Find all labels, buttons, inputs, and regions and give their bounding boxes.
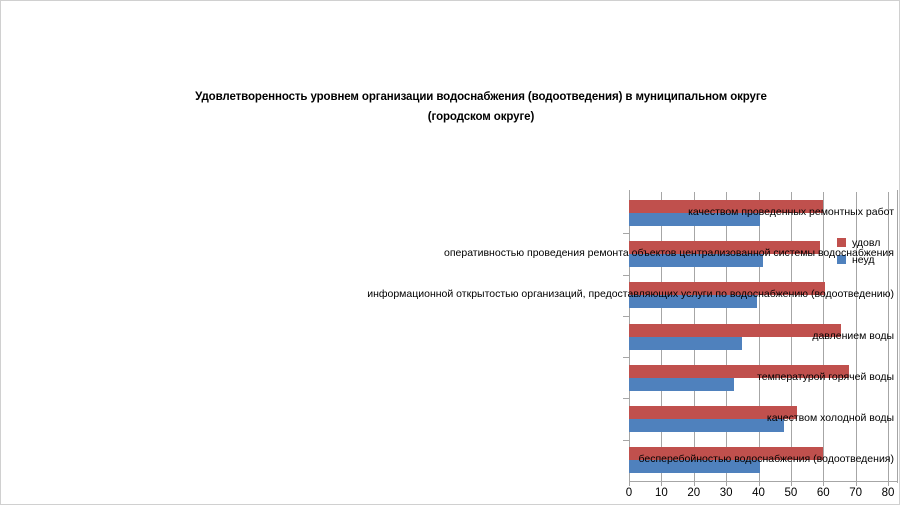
x-axis-label: 60 [808,487,838,499]
x-axis-tick [856,481,857,486]
x-axis-tick [791,481,792,486]
x-axis-line [629,481,898,482]
y-axis-tick [623,440,629,441]
y-axis-tick [623,398,629,399]
x-axis-tick [759,481,760,486]
x-axis-tick [726,481,727,486]
x-axis-label: 0 [614,487,644,499]
category-label: качеством холодной воды [274,412,899,424]
x-axis-tick [888,481,889,486]
x-axis-label: 70 [841,487,871,499]
category-label: давлением воды [274,330,899,342]
y-axis-tick [623,275,629,276]
category-label: информационной открытостью организаций, … [274,288,899,300]
x-axis-label: 40 [744,487,774,499]
x-axis-tick [694,481,695,486]
chart-title-line-2: (городском округе) [91,107,871,127]
x-axis-label: 50 [776,487,806,499]
y-axis-tick [623,357,629,358]
chart-container: Удовлетворенность уровнем организации во… [0,0,900,505]
category-label: температурой горячей воды [274,371,899,383]
category-label: оперативностью проведения ремонта объект… [274,247,899,259]
chart-title-line-1: Удовлетворенность уровнем организации во… [91,87,871,107]
legend-swatch-icon [837,238,846,247]
x-axis-tick [661,481,662,486]
y-axis-tick [623,233,629,234]
x-axis-label: 20 [679,487,709,499]
x-axis-label: 10 [646,487,676,499]
x-axis-tick [823,481,824,486]
category-label: качеством проведенных ремонтных работ [274,206,899,218]
y-axis-tick [623,316,629,317]
x-axis-tick [629,481,630,486]
chart-title: Удовлетворенность уровнем организации во… [91,87,871,127]
x-axis-label: 80 [873,487,900,499]
category-label: бесперебойностью водоснабжения (водоотве… [274,453,899,465]
x-axis-label: 30 [711,487,741,499]
